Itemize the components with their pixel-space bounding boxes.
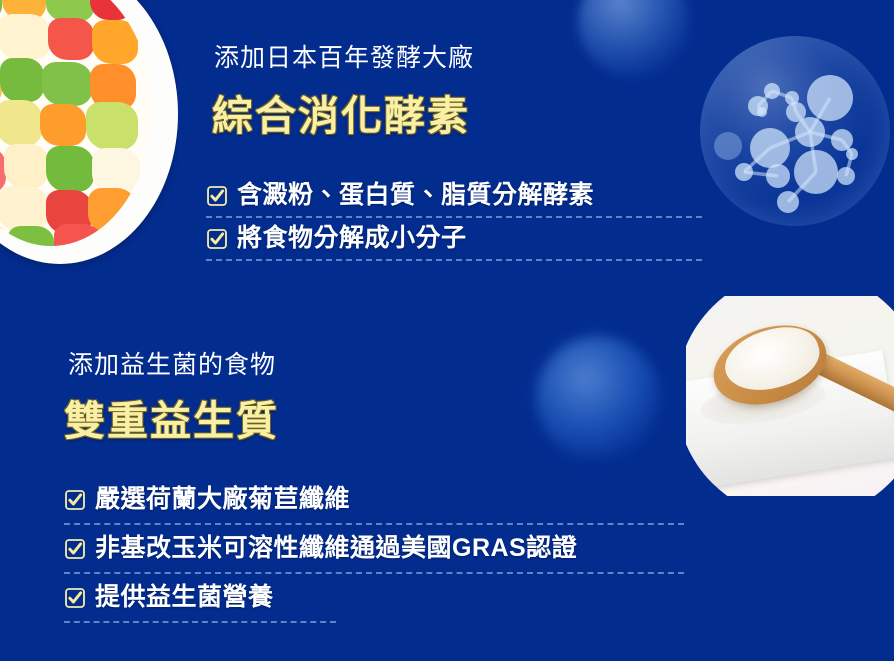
list-item-label: 將食物分解成小分子 xyxy=(237,225,467,253)
prebiotic-section-kicker: 添加益生菌的食物 xyxy=(68,352,276,380)
checkbox-checked-icon xyxy=(206,185,228,207)
fruit-salad-bowl-image xyxy=(0,0,178,286)
wooden-spoon-powder-image xyxy=(686,296,894,496)
list-item: 將食物分解成小分子 xyxy=(206,219,702,259)
photo-disc xyxy=(686,296,894,496)
decorative-bubble-icon xyxy=(536,336,660,460)
checkbox-checked-icon xyxy=(64,538,86,560)
checkbox-checked-icon xyxy=(64,489,86,511)
list-item-label: 嚴選荷蘭大廠菊苣纖維 xyxy=(95,486,350,514)
list-item-label: 含澱粉、蛋白質、脂質分解酵素 xyxy=(237,182,594,210)
prebiotic-feature-list: 嚴選荷蘭大廠菊苣纖維 非基改玉米可溶性纖維通過美國GRAS認證 提供益生菌營養 xyxy=(64,477,684,624)
enzyme-section-headline: 綜合消化酵素 xyxy=(212,93,470,140)
bowl-interior xyxy=(0,0,152,246)
molecule-network-icon xyxy=(700,36,890,226)
molecule-bubble-icon xyxy=(700,36,890,226)
checkbox-checked-icon xyxy=(64,587,86,609)
list-item: 含澱粉、蛋白質、脂質分解酵素 xyxy=(206,176,702,216)
list-item-label: 非基改玉米可溶性纖維通過美國GRAS認證 xyxy=(95,535,577,563)
bowl-rim xyxy=(0,0,178,264)
list-item: 提供益生菌營養 xyxy=(64,575,684,621)
product-feature-banner: 添加日本百年發酵大廠 綜合消化酵素 含澱粉、蛋白質、脂質分解酵素 將食物分解成小… xyxy=(0,0,894,661)
enzyme-section-kicker: 添加日本百年發酵大廠 xyxy=(214,45,474,73)
checkbox-checked-icon xyxy=(206,228,228,250)
prebiotic-section-headline: 雙重益生質 xyxy=(64,398,279,445)
list-item-label: 提供益生菌營養 xyxy=(95,584,274,612)
list-divider xyxy=(206,259,702,262)
list-item: 非基改玉米可溶性纖維通過美國GRAS認證 xyxy=(64,526,684,572)
decorative-bubble-icon xyxy=(578,0,690,78)
enzyme-feature-list: 含澱粉、蛋白質、脂質分解酵素 將食物分解成小分子 xyxy=(206,176,702,262)
list-item: 嚴選荷蘭大廠菊苣纖維 xyxy=(64,477,684,523)
list-divider xyxy=(64,621,336,624)
